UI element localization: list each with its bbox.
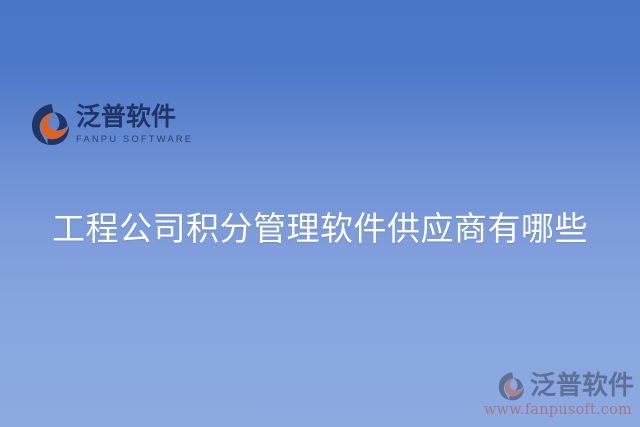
brand-text: 泛普软件 FANPU SOFTWARE — [76, 104, 193, 145]
brand-name-en: FANPU SOFTWARE — [76, 134, 193, 145]
watermark-url: www.fanpusoft.com — [484, 402, 632, 419]
watermark-name-cn: 泛普软件 — [530, 373, 634, 399]
brand-name-cn: 泛普软件 — [76, 104, 193, 130]
fanpu-swoosh-icon — [495, 371, 527, 401]
brand-logo: 泛普软件 FANPU SOFTWARE — [30, 102, 193, 146]
fanpu-swoosh-icon — [30, 102, 70, 146]
page-title: 工程公司积分管理软件供应商有哪些 — [0, 207, 640, 251]
watermark: 泛普软件 www.fanpusoft.com — [484, 371, 634, 419]
promo-banner: 泛普软件 FANPU SOFTWARE 工程公司积分管理软件供应商有哪些 泛普软… — [0, 0, 640, 427]
watermark-logo: 泛普软件 — [495, 371, 634, 401]
